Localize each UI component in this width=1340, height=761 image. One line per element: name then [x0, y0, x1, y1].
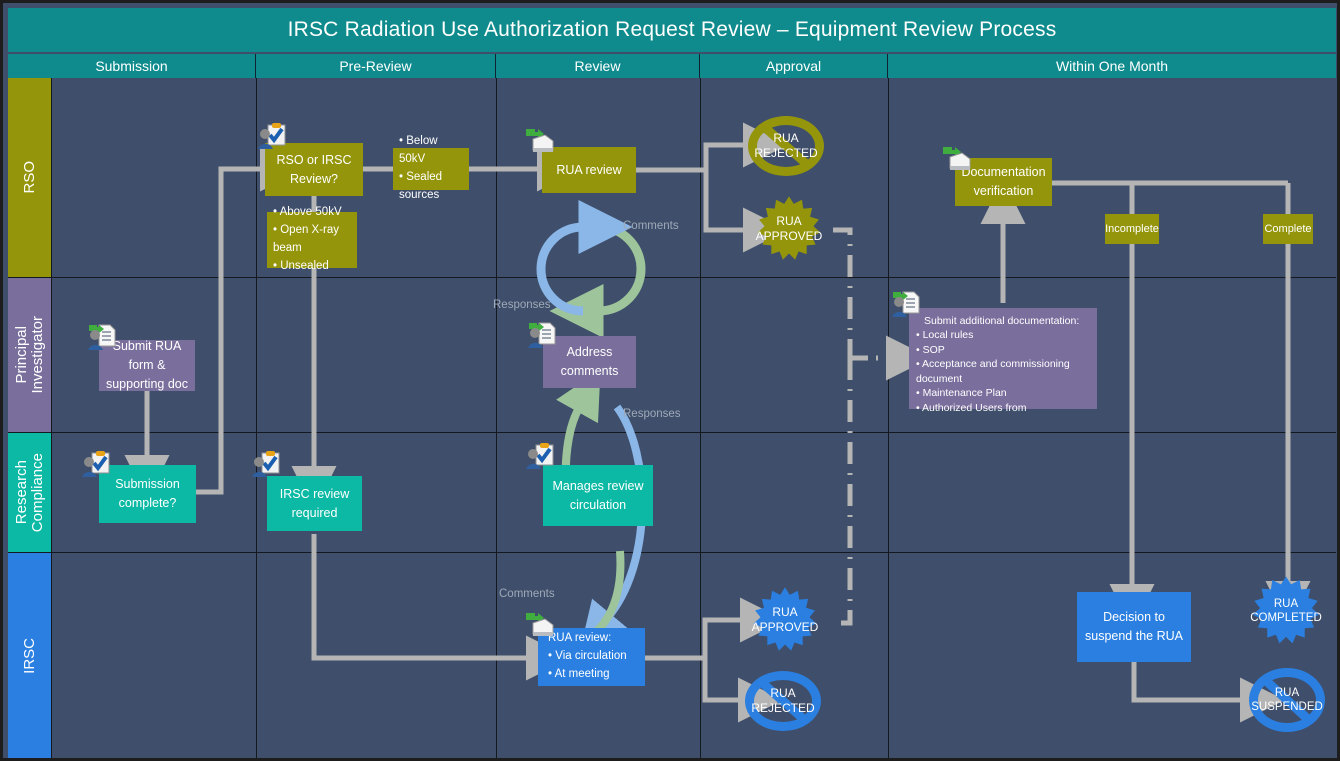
node-label: RUA REJECTED	[751, 686, 814, 716]
node-label: RUA REJECTED	[754, 131, 817, 161]
lane-label: Principal Investigator	[14, 316, 46, 394]
node-rua-review[interactable]: RUA review	[542, 147, 636, 193]
node-bullet: Below 50kV	[399, 135, 438, 165]
node-bullet: Local rules	[923, 329, 974, 341]
node-rua-rejected-irsc[interactable]: RUA REJECTED	[745, 671, 821, 731]
node-bullet: Maintenance Plan	[923, 387, 1007, 399]
node-label: Documentation verification	[961, 163, 1046, 201]
lane-body-principal-investigator	[52, 278, 1336, 432]
lane-label: RSO	[22, 161, 38, 194]
page-title-text: IRSC Radiation Use Authorization Request…	[288, 18, 1057, 42]
node-rua-completed[interactable]: RUA COMPLETED	[1246, 575, 1326, 647]
node-above-50kv[interactable]: • Above 50kV • Open X-ray beam • Unseale…	[267, 212, 357, 268]
lane-label: IRSC	[22, 638, 38, 674]
person-clipboard-check-icon	[525, 443, 555, 471]
node-title: RUA review:	[548, 630, 627, 648]
lane-label: Research Compliance	[14, 453, 46, 532]
node-label: RUA review	[556, 161, 621, 180]
person-document-icon	[87, 323, 117, 351]
node-irsc-review-required[interactable]: IRSC review required	[267, 476, 362, 531]
person-clipboard-check-icon	[251, 451, 281, 479]
node-submit-additional-documentation[interactable]: Submit additional documentation: • Local…	[909, 308, 1097, 409]
node-bullet: Acceptance and commissioning document	[916, 358, 1070, 384]
lane-title-rso: RSO	[8, 78, 52, 277]
node-label: RUA APPROVED	[752, 605, 819, 635]
node-bullet: At meeting	[555, 668, 610, 680]
lane-body-rso	[52, 78, 1336, 277]
lane-body-research-compliance	[52, 433, 1336, 552]
edge-label-responses-top: Responses	[493, 299, 551, 311]
node-bullet: SOP	[923, 344, 945, 356]
node-title: Submit additional documentation:	[916, 314, 1090, 328]
person-document-icon	[891, 290, 921, 318]
person-clipboard-check-icon	[81, 451, 111, 479]
inbox-green-arrow-icon	[941, 145, 971, 173]
phase-header-approval: Approval	[700, 54, 888, 78]
node-label: RUA COMPLETED	[1250, 597, 1322, 626]
node-rua-approved-irsc[interactable]: RUA APPROVED	[747, 586, 823, 654]
node-label: Manages review circulation	[549, 477, 647, 515]
phase-label: Pre-Review	[339, 58, 411, 74]
phase-label: Approval	[766, 58, 821, 74]
phase-header-review: Review	[496, 54, 700, 78]
node-bullet: Above 50kV	[280, 206, 342, 218]
phase-header-within-one-month: Within One Month	[888, 54, 1336, 78]
person-clipboard-check-icon	[257, 123, 287, 151]
lane-title-research-compliance: Research Compliance	[8, 433, 52, 552]
phase-label: Review	[575, 58, 621, 74]
edge-label-responses-mid: Responses	[623, 408, 681, 420]
node-rua-approved-rso[interactable]: RUA APPROVED	[751, 195, 827, 263]
node-label: Submit RUA form & supporting doc	[105, 337, 189, 393]
node-rua-rejected-rso[interactable]: RUA REJECTED	[748, 116, 824, 176]
edge-label-comments-top: Comments	[623, 220, 679, 232]
node-rua-suspended[interactable]: RUA SUSPENDED	[1249, 668, 1325, 732]
node-label: RSO or IRSC Review?	[271, 151, 357, 189]
phase-header-bar: Submission Pre-Review Review Approval Wi…	[8, 54, 1336, 78]
node-decision-to-suspend-the-rua[interactable]: Decision to suspend the RUA	[1077, 592, 1191, 662]
phase-header-submission: Submission	[8, 54, 256, 78]
person-document-icon	[527, 321, 557, 349]
node-label: Incomplete	[1105, 221, 1159, 238]
node-submission-complete[interactable]: Submission complete?	[99, 465, 196, 523]
node-label: Decision to suspend the RUA	[1083, 608, 1185, 646]
node-complete[interactable]: Complete	[1263, 214, 1313, 244]
node-manages-review-circulation[interactable]: Manages review circulation	[543, 465, 653, 526]
lane-research-compliance: Research Compliance	[8, 433, 1336, 553]
node-bullet: Open X-ray beam	[273, 224, 339, 254]
node-label: Address comments	[549, 343, 630, 381]
inbox-green-arrow-icon	[524, 611, 554, 639]
node-label: Complete	[1264, 221, 1311, 238]
phase-label: Within One Month	[1056, 58, 1168, 74]
node-bullet: Via circulation	[555, 650, 626, 662]
node-irsc-rua-review[interactable]: RUA review: • Via circulation • At meeti…	[538, 628, 645, 686]
node-incomplete[interactable]: Incomplete	[1105, 214, 1159, 244]
inbox-green-arrow-icon	[524, 127, 554, 155]
phase-header-pre-review: Pre-Review	[256, 54, 496, 78]
node-label: RUA APPROVED	[756, 214, 823, 244]
node-bullet: Sealed sources	[399, 171, 442, 201]
lane-title-principal-investigator: Principal Investigator	[8, 278, 52, 432]
edge-label-comments-bottom: Comments	[499, 588, 555, 600]
lane-title-irsc: IRSC	[8, 553, 52, 759]
lane-rso: RSO	[8, 78, 1336, 278]
node-bullet: Authorized Users from	[922, 402, 1026, 414]
node-label: IRSC review required	[273, 485, 356, 523]
node-bullet: Unsealed	[280, 260, 329, 272]
node-label: RUA SUSPENDED	[1251, 686, 1323, 715]
node-below-50kv[interactable]: • Below 50kV • Sealed sources	[393, 148, 469, 190]
phase-label: Submission	[95, 58, 167, 74]
diagram-canvas: IRSC Radiation Use Authorization Request…	[0, 0, 1340, 761]
page-title: IRSC Radiation Use Authorization Request…	[8, 8, 1336, 52]
node-label: Submission complete?	[105, 475, 190, 513]
